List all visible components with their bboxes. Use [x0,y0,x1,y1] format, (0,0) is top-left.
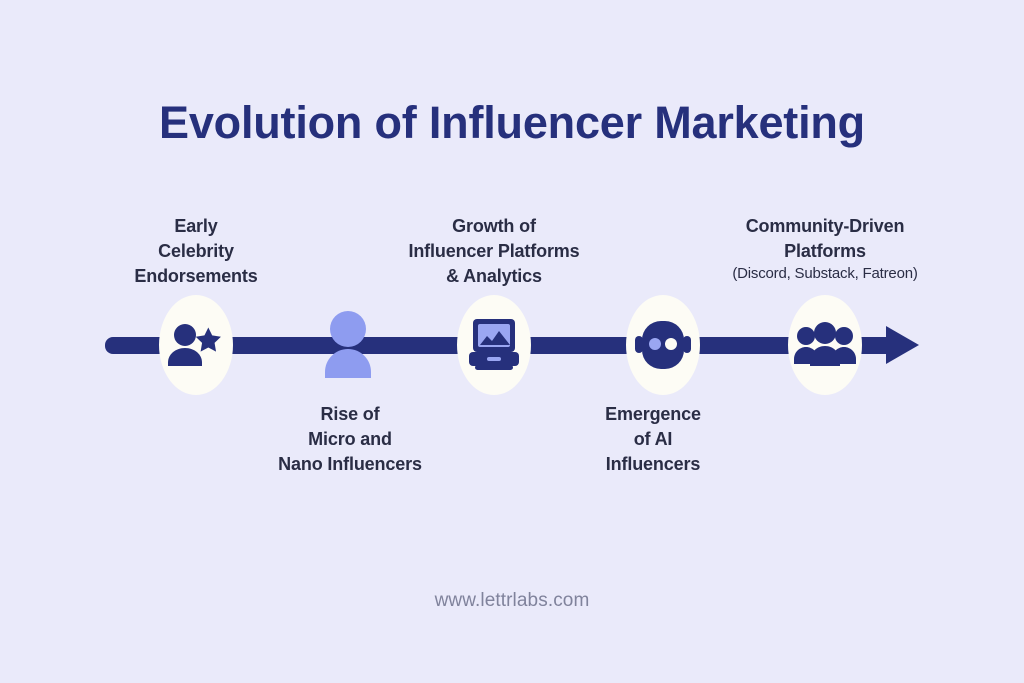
arrow-right-icon [886,326,919,364]
label-line: & Analytics [374,264,614,289]
milestone-label-growth-of-influencer-platforms: Growth of Influencer Platforms & Analyti… [374,214,614,288]
people-group-icon [794,322,856,368]
label-sublabel: (Discord, Substack, Fatreon) [703,264,947,285]
label-line: Influencer Platforms [374,239,614,264]
label-line: Endorsements [76,264,316,289]
label-line: Nano Influencers [230,452,470,477]
label-line: Emergence [543,402,763,427]
milestone-label-early-celebrity-endorsements: Early Celebrity Endorsements [76,214,316,288]
timeline-node-early-celebrity-endorsements[interactable] [146,295,246,395]
label-line: Community-Driven [703,214,947,239]
infographic-canvas: Evolution of Influencer Marketing [0,0,1024,683]
person-star-icon [168,322,224,368]
label-line: Early [76,214,316,239]
footer-website-url: www.lettrlabs.com [0,590,1024,612]
milestone-label-emergence-of-ai-influencers: Emergence of AI Influencers [543,402,763,476]
timeline-node-rise-of-micro-nano-influencers[interactable] [298,295,398,395]
person-icon [321,311,375,379]
timeline-node-growth-of-influencer-platforms[interactable] [444,295,544,395]
page-title: Evolution of Influencer Marketing [0,98,1024,148]
label-line: Rise of [230,402,470,427]
timeline-node-community-driven-platforms[interactable] [775,295,875,395]
label-line: Growth of [374,214,614,239]
milestone-label-rise-of-micro-nano-influencers: Rise of Micro and Nano Influencers [230,402,470,476]
label-line: Celebrity [76,239,316,264]
milestone-label-community-driven-platforms: Community-Driven Platforms (Discord, Sub… [703,214,947,284]
label-line: Micro and [230,427,470,452]
timeline-node-emergence-of-ai-influencers[interactable] [613,295,713,395]
label-line: Platforms [703,239,947,264]
robot-icon [634,319,692,371]
label-line: of AI [543,427,763,452]
laptop-chart-icon [465,318,523,372]
label-line: Influencers [543,452,763,477]
